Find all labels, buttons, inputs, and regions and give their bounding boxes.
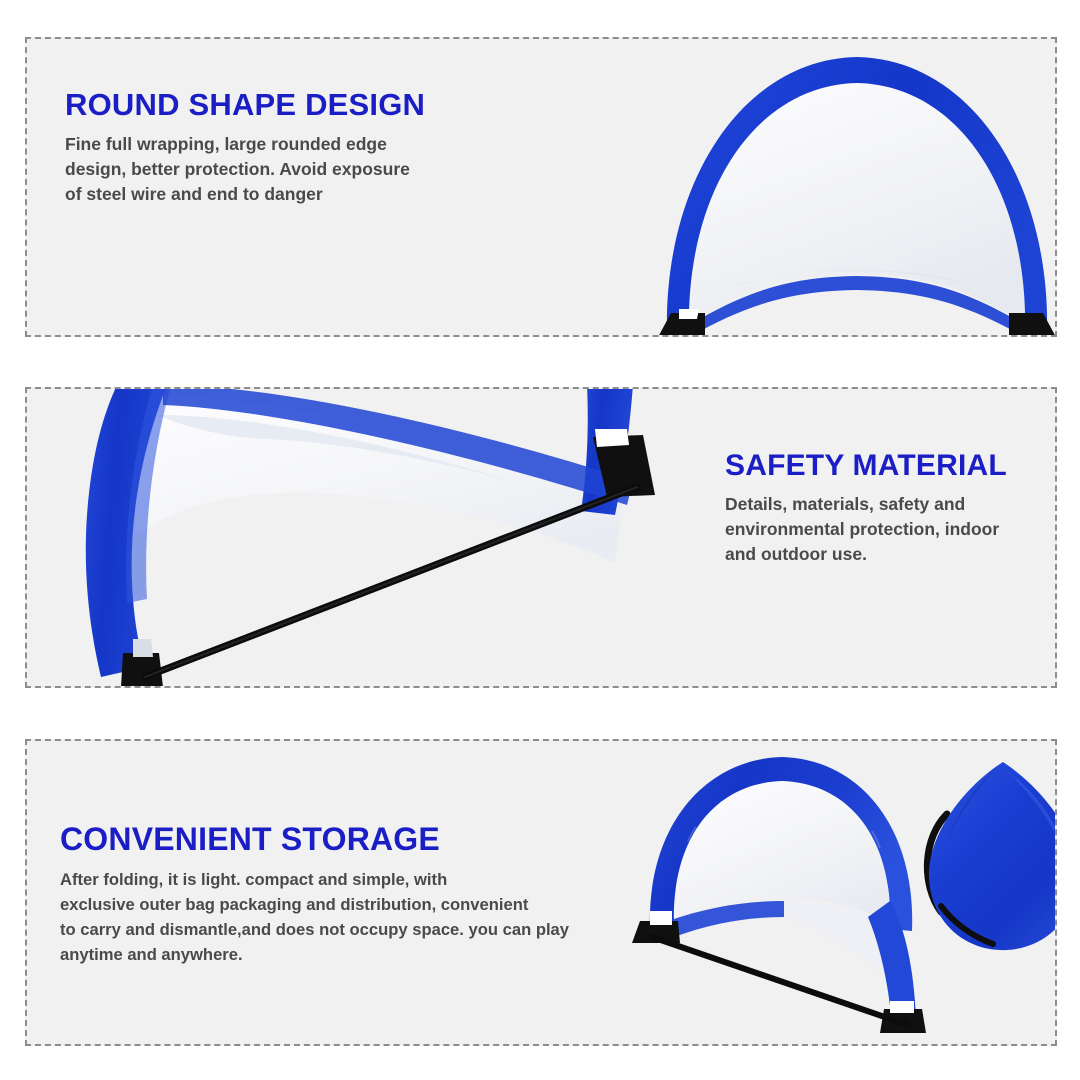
feature-text-round-shape-design: ROUND SHAPE DESIGN Fine full wrapping, l… [65,87,425,207]
panel-3-heading: CONVENIENT STORAGE [60,821,569,858]
goal-corner-foot-right [1009,313,1057,337]
panel-1-body: Fine full wrapping, large rounded edge d… [65,132,425,207]
feature-panel-convenient-storage: CONVENIENT STORAGE After folding, it is … [25,739,1057,1046]
pop-up-goal-front-view-image [627,37,1057,337]
feature-text-safety-material: SAFETY MATERIAL Details, materials, safe… [725,449,1007,567]
infographic-page: ROUND SHAPE DESIGN Fine full wrapping, l… [0,0,1080,1080]
pop-up-goal-side-view-image [67,387,687,688]
feature-panel-safety-material: SAFETY MATERIAL Details, materials, safe… [25,387,1057,688]
carry-bag-image [907,756,1057,956]
panel-2-body: Details, materials, safety and environme… [725,492,1007,567]
carry-bag-body [929,762,1057,950]
feature-panel-round-shape-design: ROUND SHAPE DESIGN Fine full wrapping, l… [25,37,1057,337]
panel-2-heading: SAFETY MATERIAL [725,449,1007,483]
panel-3-body: After folding, it is light. compact and … [60,867,569,967]
panel-1-heading: ROUND SHAPE DESIGN [65,87,425,123]
pop-up-goal-angled-view-image [622,751,952,1046]
feature-text-convenient-storage: CONVENIENT STORAGE After folding, it is … [60,821,569,967]
